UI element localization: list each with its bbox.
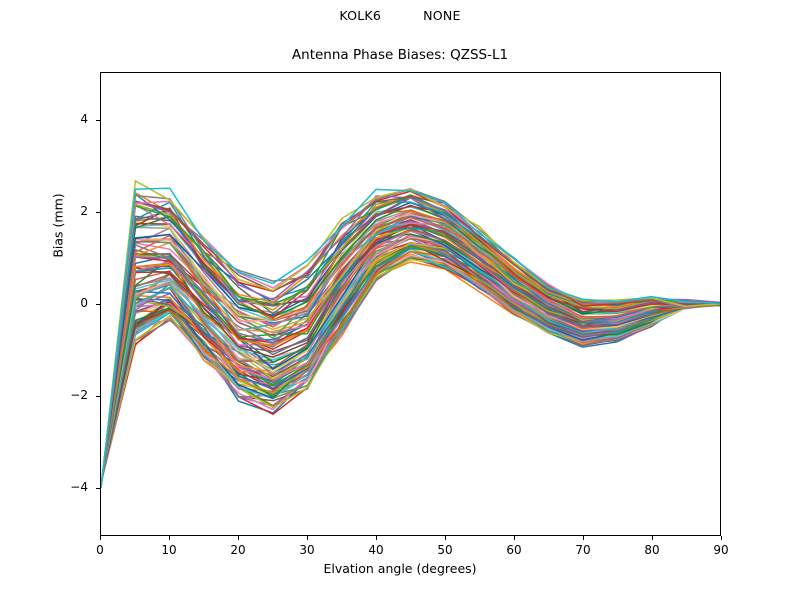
x-tick-label: 30 xyxy=(287,543,327,557)
x-tick-label: 50 xyxy=(425,543,465,557)
bias-curve xyxy=(101,245,720,483)
x-tick-mark xyxy=(652,536,653,540)
x-tick-mark xyxy=(169,536,170,540)
y-tick-label: −2 xyxy=(48,388,88,402)
x-tick-label: 40 xyxy=(356,543,396,557)
x-tick-mark xyxy=(721,536,722,540)
line-series-group xyxy=(101,73,720,535)
x-tick-label: 20 xyxy=(218,543,258,557)
y-tick-mark xyxy=(96,304,100,305)
x-tick-label: 10 xyxy=(149,543,189,557)
figure-suptitle: KOLK6 NONE xyxy=(0,8,800,23)
x-tick-label: 0 xyxy=(80,543,120,557)
chart-title: Antenna Phase Biases: QZSS-L1 xyxy=(0,47,800,63)
x-tick-label: 70 xyxy=(563,543,603,557)
y-tick-label: 4 xyxy=(48,112,88,126)
bias-curve xyxy=(101,258,720,483)
x-tick-label: 60 xyxy=(494,543,534,557)
bias-curve xyxy=(101,257,720,483)
y-tick-mark xyxy=(96,212,100,213)
x-tick-label: 90 xyxy=(701,543,741,557)
y-axis-label: Bias (mm) xyxy=(51,146,66,306)
x-tick-mark xyxy=(445,536,446,540)
x-tick-mark xyxy=(514,536,515,540)
x-tick-mark xyxy=(307,536,308,540)
y-tick-mark xyxy=(96,120,100,121)
y-tick-mark xyxy=(96,488,100,489)
x-tick-label: 80 xyxy=(632,543,672,557)
y-tick-label: −4 xyxy=(48,480,88,494)
bias-curve xyxy=(101,257,720,483)
bias-curve xyxy=(101,257,720,482)
x-tick-mark xyxy=(376,536,377,540)
x-tick-mark xyxy=(583,536,584,540)
plot-area xyxy=(100,72,721,536)
x-tick-mark xyxy=(238,536,239,540)
x-tick-mark xyxy=(100,536,101,540)
y-tick-mark xyxy=(96,396,100,397)
figure-canvas: KOLK6 NONE Antenna Phase Biases: QZSS-L1… xyxy=(0,0,800,600)
bias-curve xyxy=(101,259,720,482)
x-axis-label: Elvation angle (degrees) xyxy=(0,561,800,576)
